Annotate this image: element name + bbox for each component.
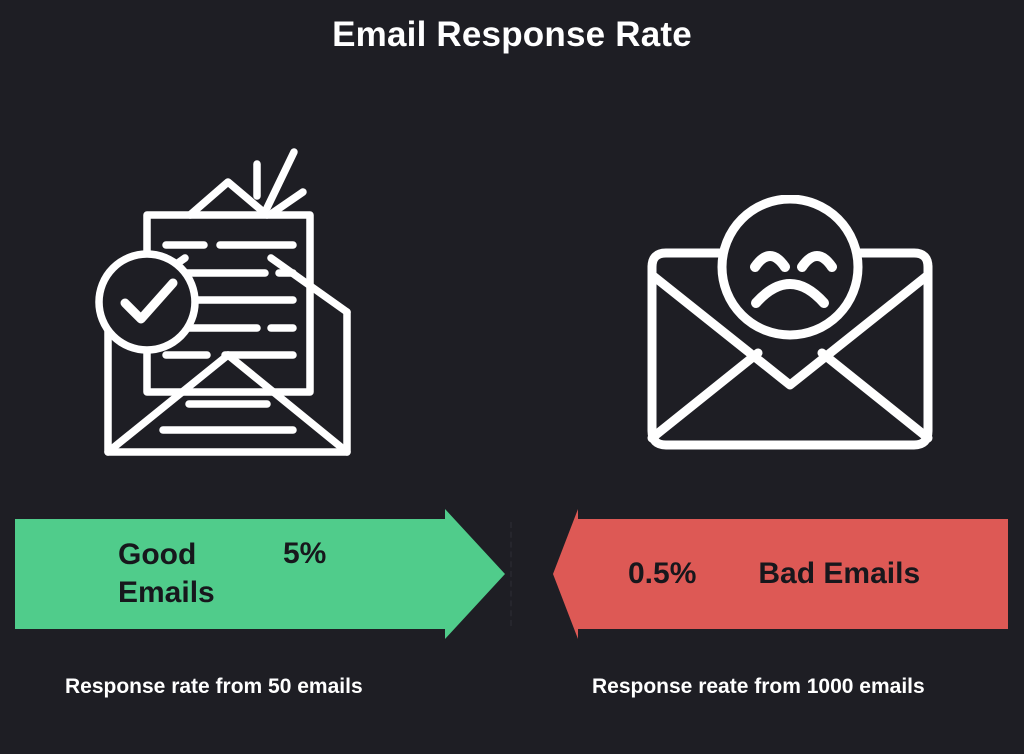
bad-emails-percent: 0.5%: [628, 555, 696, 593]
bad-emails-caption: Response reate from 1000 emails: [592, 672, 962, 702]
good-emails-arrow: Good Emails 5%: [15, 509, 505, 639]
good-emails-label: Good Emails: [118, 536, 283, 613]
bad-emails-arrow: 0.5% Bad Emails: [553, 509, 1008, 639]
good-arrow-labels: Good Emails 5%: [15, 509, 505, 639]
infographic-canvas: Email Response Rate: [0, 0, 1024, 754]
page-title: Email Response Rate: [0, 14, 1024, 56]
bad-arrow-labels: 0.5% Bad Emails: [553, 509, 1008, 639]
envelope-with-letter-and-checkmark-icon: [85, 140, 385, 470]
checkmark-badge-circle: [99, 254, 195, 350]
envelope-fold-left: [652, 353, 758, 438]
good-emails-caption: Response rate from 50 emails: [65, 672, 405, 702]
good-emails-percent: 5%: [283, 535, 326, 573]
envelope-fold-right: [822, 353, 928, 438]
bad-emails-label: Bad Emails: [758, 555, 920, 593]
arrow-divider: [510, 522, 512, 626]
envelope-with-sad-face-icon: [630, 195, 950, 460]
